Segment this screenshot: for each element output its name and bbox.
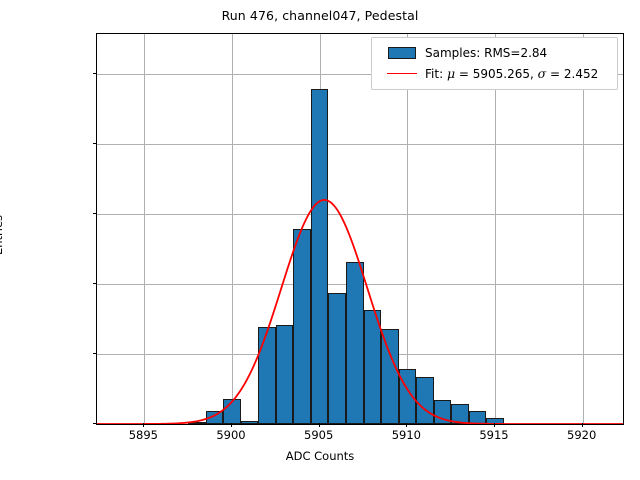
- line-patch-icon: [379, 73, 425, 74]
- legend-label-samples: Samples: RMS=2.84: [425, 46, 547, 60]
- x-axis-tick-label: 5900: [216, 428, 245, 442]
- x-axis-label: ADC Counts: [0, 449, 640, 463]
- y-axis-tick-mark: [93, 423, 97, 424]
- x-axis-tick-mark: [494, 423, 495, 427]
- chart-figure: Run 476, channel047, Pedestal 0500001000…: [0, 0, 640, 480]
- y-axis-tick-mark: [93, 73, 97, 74]
- x-axis-tick-label: 5895: [129, 428, 158, 442]
- x-axis-tick-label: 5920: [567, 428, 596, 442]
- sigma-symbol: σ: [538, 66, 547, 81]
- legend-item-fit: Fit: μ = 5905.265, σ = 2.452: [379, 63, 610, 83]
- y-axis-tick-mark: [93, 143, 97, 144]
- x-axis-tick-label: 5910: [392, 428, 421, 442]
- x-axis-tick-label: 5915: [479, 428, 508, 442]
- x-axis-tick-mark: [582, 423, 583, 427]
- x-axis-tick-mark: [319, 423, 320, 427]
- x-axis-tick-mark: [143, 423, 144, 427]
- legend-item-samples: Samples: RMS=2.84: [379, 43, 610, 63]
- y-axis-tick-mark: [93, 353, 97, 354]
- gaussian-fit-curve: [97, 34, 623, 424]
- x-axis-tick-label: 5905: [304, 428, 333, 442]
- page-title: Run 476, channel047, Pedestal: [0, 8, 640, 23]
- y-axis-tick-mark: [93, 213, 97, 214]
- chart-legend: Samples: RMS=2.84 Fit: μ = 5905.265, σ =…: [371, 37, 618, 90]
- mu-symbol: μ: [447, 66, 455, 81]
- plot-area: [96, 33, 624, 425]
- x-axis-tick-mark: [231, 423, 232, 427]
- y-axis-label: Entries: [0, 215, 5, 255]
- legend-label-fit: Fit: μ = 5905.265, σ = 2.452: [425, 66, 598, 81]
- y-axis-tick-mark: [93, 283, 97, 284]
- bar-patch-icon: [379, 47, 425, 59]
- x-axis-tick-mark: [406, 423, 407, 427]
